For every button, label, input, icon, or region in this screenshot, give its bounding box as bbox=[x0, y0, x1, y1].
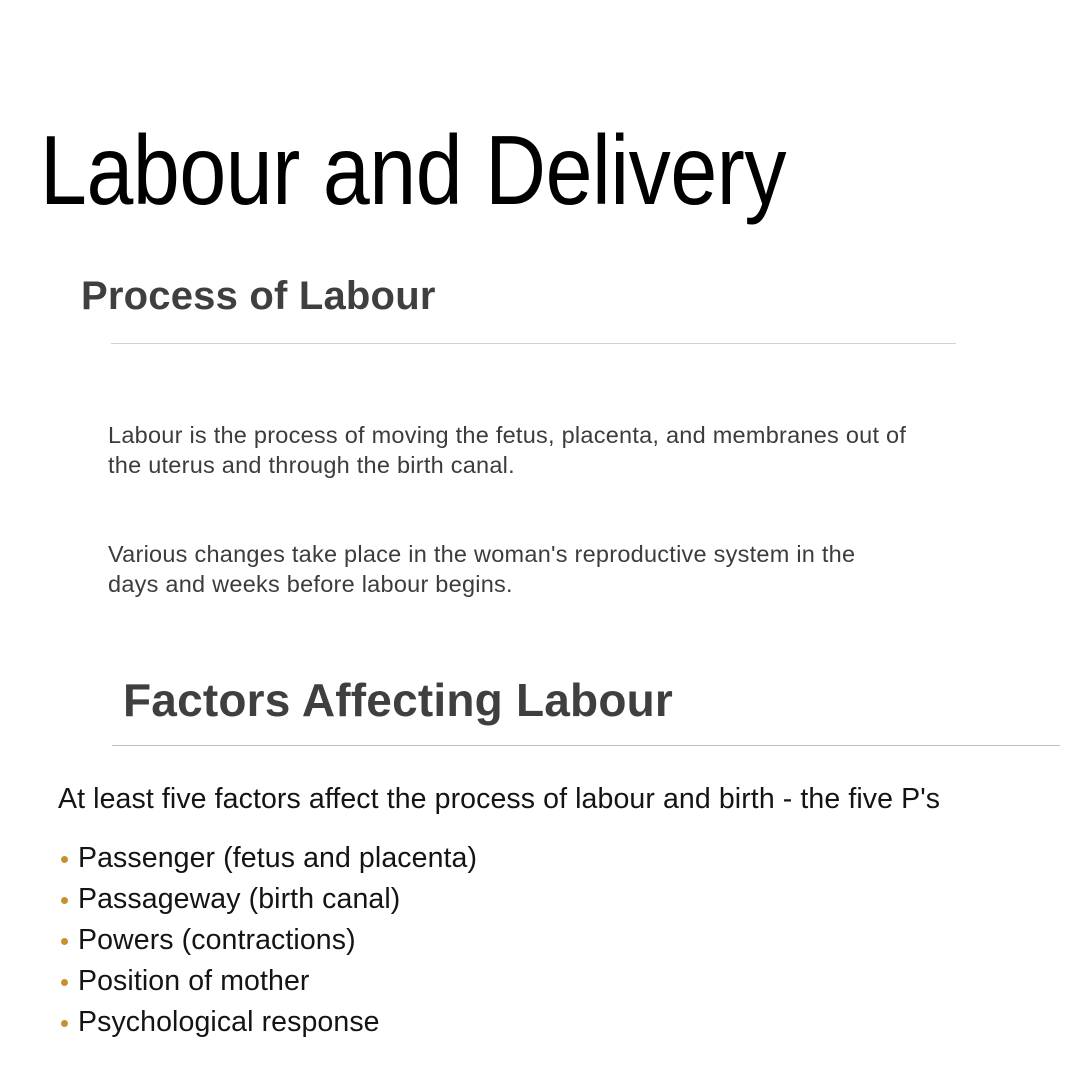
paragraph-prelabour-changes: Various changes take place in the woman'… bbox=[108, 539, 908, 599]
paragraph-labour-definition: Labour is the process of moving the fetu… bbox=[108, 420, 908, 480]
section-divider-top bbox=[111, 343, 956, 344]
factors-list: Passenger (fetus and placenta) Passagewa… bbox=[58, 838, 758, 1043]
list-item: Psychological response bbox=[58, 1002, 758, 1043]
list-item-label: Passageway (birth canal) bbox=[78, 879, 400, 920]
list-item-label: Position of mother bbox=[78, 961, 310, 1002]
lead-in-five-ps: At least five factors affect the process… bbox=[58, 781, 940, 817]
bullet-dot-icon bbox=[61, 897, 68, 904]
list-item: Position of mother bbox=[58, 961, 758, 1002]
section-heading-factors-affecting-labour: Factors Affecting Labour bbox=[123, 672, 673, 728]
list-item-label: Powers (contractions) bbox=[78, 920, 356, 961]
page-title: Labour and Delivery bbox=[40, 118, 900, 222]
section-divider-bottom bbox=[112, 745, 1060, 746]
bullet-dot-icon bbox=[61, 938, 68, 945]
list-item-label: Passenger (fetus and placenta) bbox=[78, 838, 477, 879]
list-item: Passageway (birth canal) bbox=[58, 879, 758, 920]
list-item: Passenger (fetus and placenta) bbox=[58, 838, 758, 879]
bullet-dot-icon bbox=[61, 979, 68, 986]
slide-canvas: Labour and Delivery Process of Labour La… bbox=[0, 0, 1080, 1084]
bullet-dot-icon bbox=[61, 1020, 68, 1027]
list-item: Powers (contractions) bbox=[58, 920, 758, 961]
list-item-label: Psychological response bbox=[78, 1002, 380, 1043]
section-heading-process-of-labour: Process of Labour bbox=[81, 272, 436, 320]
bullet-dot-icon bbox=[61, 856, 68, 863]
